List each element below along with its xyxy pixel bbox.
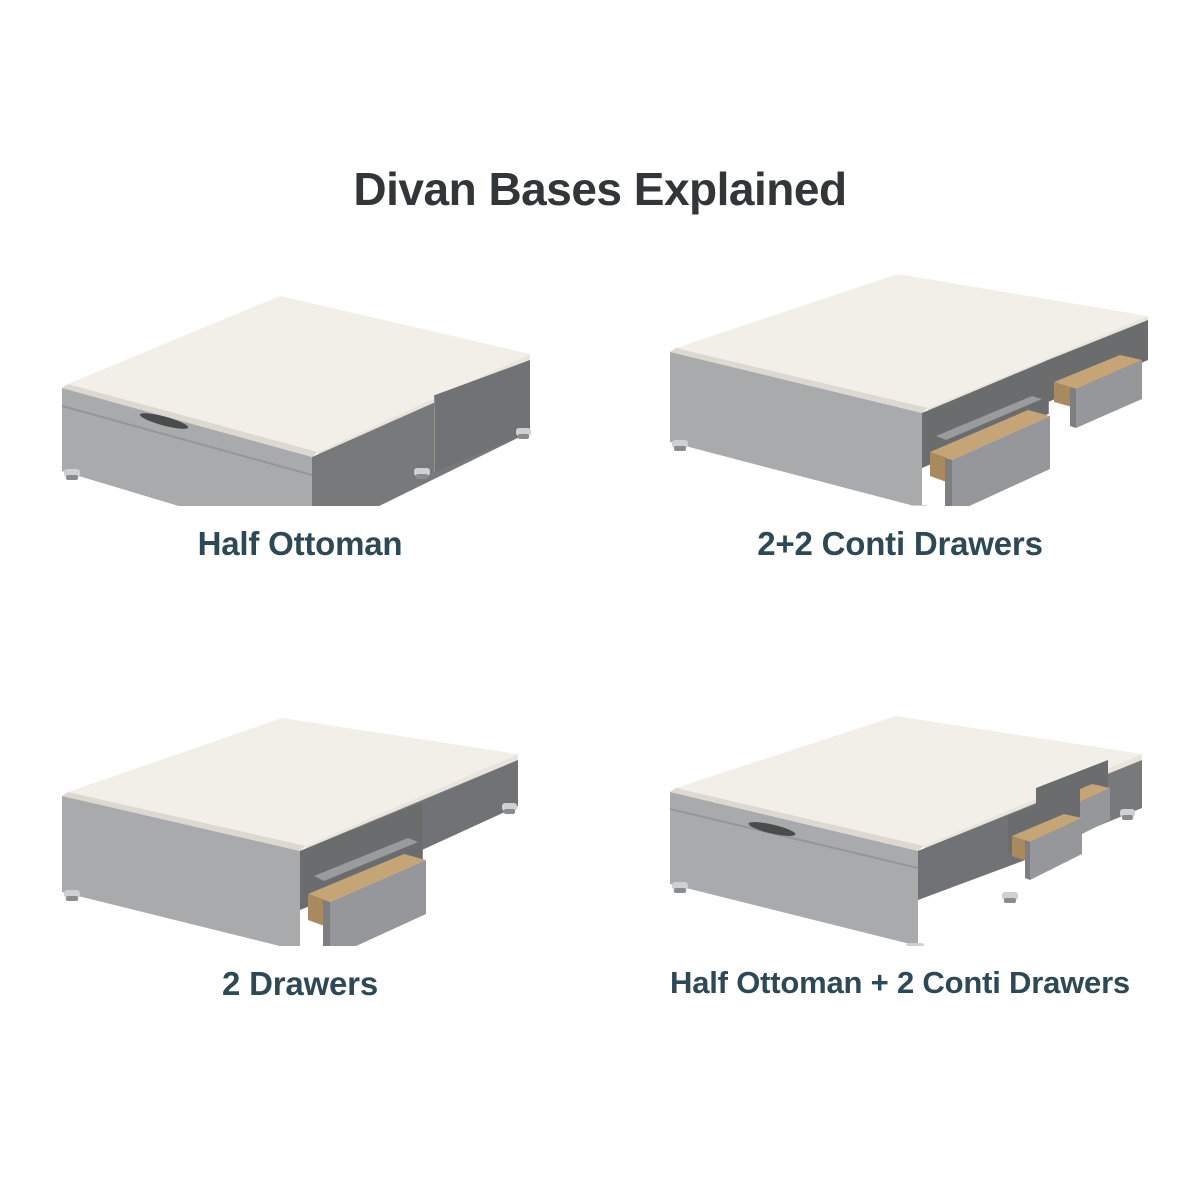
page-title: Divan Bases Explained [0,162,1200,216]
product-label-half-ottoman: Half Ottoman [0,525,600,563]
base-foot [910,505,928,506]
base-foot [414,468,430,479]
divan-base-2-drawers-illustration [50,696,550,946]
drawer-front-edge [1025,840,1030,880]
bed-illustration-stage [600,250,1200,515]
bed-illustration-stage [600,690,1200,955]
bed-illustration-stage [0,690,600,955]
bed-illustration-stage [0,250,600,515]
divan-base-half-ottoman-plus-2-conti-drawers-illustration [650,696,1150,946]
product-card-half-ottoman[interactable]: Half Ottoman [0,250,600,650]
product-card-2-drawers[interactable]: 2 Drawers [0,690,600,1090]
base-foot [516,428,531,439]
divan-base-half-ottoman-illustration [50,256,550,506]
drawer-front-edge [323,900,330,946]
base-foot [906,943,924,946]
product-card-half-ottoman-plus-2-conti-drawers[interactable]: Half Ottoman + 2 Conti Drawers [600,690,1200,1090]
base-foot [502,803,517,814]
base-foot [1120,809,1135,820]
product-label-2-drawers: 2 Drawers [0,965,600,1003]
drawer-front-edge [945,458,952,506]
base-foot [1002,892,1018,903]
base-foot [64,469,80,480]
base-foot [672,882,688,893]
product-label-half-ottoman-plus-2-conti-drawers: Half Ottoman + 2 Conti Drawers [600,965,1200,1001]
base-foot [672,440,688,451]
product-card-2-plus-2-conti-drawers[interactable]: 2+2 Conti Drawers [600,250,1200,650]
divan-base-2-plus-2-conti-drawers-illustration [650,256,1150,506]
base-foot [64,890,80,901]
drawer-front-edge [1070,387,1076,428]
product-label-2-plus-2-conti-drawers: 2+2 Conti Drawers [600,525,1200,563]
